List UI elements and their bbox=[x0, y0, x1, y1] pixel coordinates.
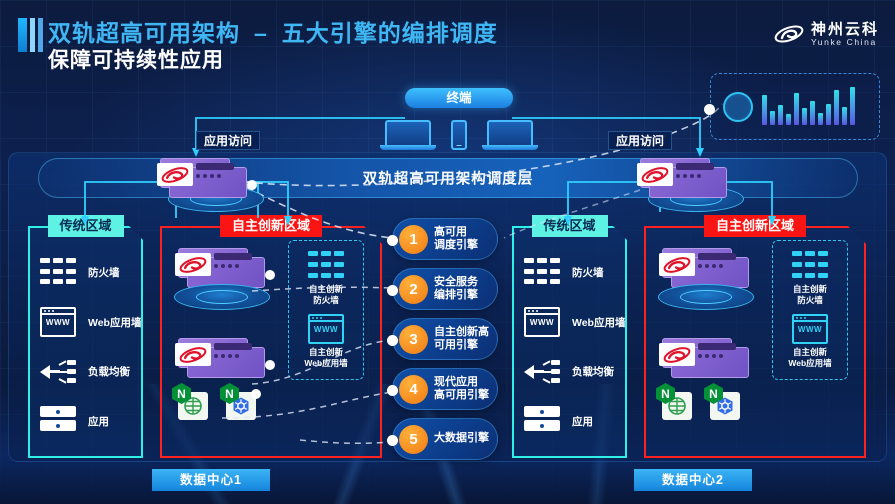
smartphone-icon bbox=[451, 120, 467, 150]
cloud-native-icons: NN bbox=[658, 386, 740, 420]
terminal-group: 终端 bbox=[385, 88, 533, 150]
traditional-service-label: 应用 bbox=[88, 414, 109, 429]
innovation-appliance-icon bbox=[178, 338, 270, 378]
web-application-firewall-icon: WWW bbox=[308, 314, 344, 344]
traditional-service-label: Web应用墙 bbox=[572, 315, 625, 330]
brand-name-cn: 神州云科 bbox=[811, 22, 879, 38]
chart-bar bbox=[770, 111, 775, 125]
scheduler-band-label: 双轨超高可用架构调度层 bbox=[363, 168, 534, 189]
engine-label: 大数据引擎 bbox=[434, 432, 489, 445]
chart-bar bbox=[786, 114, 791, 125]
nginx-gateway-icon[interactable]: N bbox=[658, 386, 692, 420]
traditional-service-item[interactable]: 负载均衡 bbox=[40, 357, 131, 387]
innovation-subitem-label-line2: Web应用墙 bbox=[788, 358, 831, 369]
engine-label-line2: 高可用引擎 bbox=[434, 389, 489, 402]
innovation-subitem[interactable]: WWW自主创新Web应用墙 bbox=[304, 314, 347, 368]
brand-name-en: Yunke China bbox=[811, 38, 879, 47]
firewall-icon bbox=[308, 251, 344, 281]
swirl-logo-icon bbox=[774, 22, 804, 46]
vendor-badge-icon bbox=[637, 163, 673, 186]
chart-bar bbox=[818, 113, 823, 125]
application-server-icon bbox=[40, 406, 76, 436]
header: 双轨超高可用架构–五大引擎的编排调度 保障可持续性应用 神州云科 Yunke C… bbox=[0, 0, 895, 72]
innovation-subitem-label-line1: 自主创新 bbox=[792, 284, 828, 295]
innovation-subpanel: 自主创新防火墙WWW自主创新Web应用墙 bbox=[772, 240, 848, 380]
innovation-subitem[interactable]: 自主创新防火墙 bbox=[792, 251, 828, 305]
chart-bar bbox=[810, 101, 815, 125]
zone-innovation-left[interactable]: 自主创新区域 NN 自主创新防火墙WWW自主创新Web应用墙 bbox=[160, 226, 382, 458]
firewall-icon bbox=[40, 258, 76, 288]
traditional-service-label: Web应用墙 bbox=[88, 315, 141, 330]
innovation-subitem-label-line2: 防火墙 bbox=[308, 295, 344, 306]
engine-number-badge: 3 bbox=[399, 325, 428, 354]
load-balancer-icon bbox=[40, 357, 76, 387]
innovation-subitem[interactable]: 自主创新防火墙 bbox=[308, 251, 344, 305]
engine-label-line1: 安全服务 bbox=[434, 276, 478, 289]
page-title-line-1: 双轨超高可用架构–五大引擎的编排调度 bbox=[48, 14, 498, 48]
scheduler-appliance-icon bbox=[640, 158, 732, 198]
engine-connector-node-icon bbox=[387, 385, 398, 396]
engine-number-badge: 4 bbox=[399, 375, 428, 404]
web-application-firewall-icon: WWW bbox=[792, 314, 828, 344]
traditional-service-label: 负载均衡 bbox=[88, 364, 130, 379]
engine-label-line1: 高可用 bbox=[434, 226, 478, 239]
laptop-icon bbox=[487, 120, 533, 150]
kubernetes-icon[interactable]: N bbox=[222, 386, 256, 420]
innovation-appliance-icon bbox=[178, 248, 270, 288]
traditional-service-list: 防火墙WWWWeb应用墙负载均衡应用 bbox=[28, 248, 143, 446]
engine-label: 现代应用高可用引擎 bbox=[434, 376, 489, 403]
innovation-subitem-label-line2: 防火墙 bbox=[792, 295, 828, 306]
innovation-subitem-label: 自主创新Web应用墙 bbox=[304, 347, 347, 368]
engine-connector-node-icon bbox=[387, 435, 398, 446]
laptop-icon bbox=[385, 120, 431, 150]
traditional-service-item[interactable]: WWWWeb应用墙 bbox=[40, 307, 131, 337]
zone-badge-traditional: 传统区域 bbox=[531, 215, 607, 237]
engine-label-line2: 调度引擎 bbox=[434, 239, 478, 252]
engine-list: 1高可用调度引擎2安全服务编排引擎3自主创新高可用引擎4现代应用高可用引擎5大数… bbox=[392, 218, 498, 468]
innovation-subitem-label-line1: 自主创新 bbox=[788, 347, 831, 358]
engine-item-1[interactable]: 1高可用调度引擎 bbox=[392, 218, 498, 260]
title-main: 双轨超高可用架构 bbox=[48, 20, 240, 46]
traditional-service-label: 防火墙 bbox=[88, 265, 120, 280]
innovation-podium bbox=[174, 284, 270, 310]
zone-traditional-right[interactable]: 传统区域 防火墙WWWWeb应用墙负载均衡应用 bbox=[512, 226, 627, 458]
chart-bar bbox=[794, 93, 799, 125]
chart-bar bbox=[834, 90, 839, 125]
connector-node-icon bbox=[251, 389, 261, 399]
nginx-gateway-icon[interactable]: N bbox=[174, 386, 208, 420]
scheduler-appliance-icon bbox=[160, 158, 252, 198]
engine-number-badge: 5 bbox=[399, 425, 428, 454]
vendor-badge-icon bbox=[157, 163, 193, 186]
terminal-label: 终端 bbox=[405, 88, 513, 108]
firewall-icon bbox=[792, 251, 828, 281]
chart-bar bbox=[850, 87, 855, 125]
engine-label: 自主创新高可用引擎 bbox=[434, 326, 489, 353]
header-accent-bars-icon bbox=[18, 18, 43, 52]
chart-bar bbox=[778, 105, 783, 125]
traditional-service-list: 防火墙WWWWeb应用墙负载均衡应用 bbox=[512, 248, 627, 446]
zone-badge-innovation: 自主创新区域 bbox=[704, 215, 806, 237]
innovation-subitem-label: 自主创新防火墙 bbox=[308, 284, 344, 305]
diagram-stage: 双轨超高可用架构–五大引擎的编排调度 保障可持续性应用 神州云科 Yunke C… bbox=[0, 0, 895, 504]
brand-text: 神州云科 Yunke China bbox=[811, 22, 879, 47]
traditional-service-item[interactable]: 防火墙 bbox=[40, 258, 131, 288]
brand-logo: 神州云科 Yunke China bbox=[774, 22, 879, 47]
traditional-service-label: 应用 bbox=[572, 414, 593, 429]
chart-bar bbox=[802, 108, 807, 125]
engine-item-4[interactable]: 4现代应用高可用引擎 bbox=[392, 368, 498, 410]
innovation-subitem-label: 自主创新防火墙 bbox=[792, 284, 828, 305]
load-balancer-icon bbox=[524, 357, 560, 387]
innovation-subitem-label-line1: 自主创新 bbox=[308, 284, 344, 295]
title-sub: 五大引擎的编排调度 bbox=[282, 20, 498, 46]
engine-number-badge: 1 bbox=[399, 225, 428, 254]
datacenter-label-2: 数据中心2 bbox=[634, 469, 752, 491]
traditional-service-item[interactable]: WWWWeb应用墙 bbox=[524, 307, 615, 337]
engine-connector-node-icon bbox=[387, 335, 398, 346]
engine-label-line1: 大数据引擎 bbox=[434, 432, 489, 445]
engine-label: 高可用调度引擎 bbox=[434, 226, 478, 253]
engine-label-line1: 现代应用 bbox=[434, 376, 489, 389]
kubernetes-icon[interactable]: N bbox=[706, 386, 740, 420]
engine-label: 安全服务编排引擎 bbox=[434, 276, 478, 303]
traditional-service-label: 负载均衡 bbox=[572, 364, 614, 379]
zone-traditional-left[interactable]: 传统区域 防火墙WWWWeb应用墙负载均衡应用 bbox=[28, 226, 143, 458]
access-label-left: 应用访问 bbox=[196, 131, 260, 150]
title-dash: – bbox=[240, 20, 282, 46]
innovation-appliance-icon bbox=[662, 338, 754, 378]
innovation-subitem-label-line2: Web应用墙 bbox=[304, 358, 347, 369]
bar-chart-icon bbox=[762, 89, 855, 125]
zone-innovation-right[interactable]: 自主创新区域 NN 自主创新防火墙WWW自主创新Web应用墙 bbox=[644, 226, 866, 458]
terminal-devices bbox=[385, 110, 533, 150]
web-application-firewall-icon: WWW bbox=[524, 307, 560, 337]
chart-bar bbox=[826, 104, 831, 125]
cloud-native-icons: NN bbox=[174, 386, 256, 420]
innovation-podium bbox=[658, 284, 754, 310]
engine-connector-node-icon bbox=[387, 235, 398, 246]
innovation-subitem-label: 自主创新Web应用墙 bbox=[788, 347, 831, 368]
application-server-icon bbox=[524, 406, 560, 436]
innovation-appliance-icon bbox=[662, 248, 754, 288]
innovation-subitem-label-line1: 自主创新 bbox=[304, 347, 347, 358]
firewall-icon bbox=[524, 258, 560, 288]
traditional-service-item[interactable]: 应用 bbox=[40, 406, 131, 436]
engine-connector-node-icon bbox=[387, 285, 398, 296]
engine-label-line2: 可用引擎 bbox=[434, 339, 489, 352]
page-title-line-2: 保障可持续性应用 bbox=[48, 44, 224, 74]
innovation-subitem[interactable]: WWW自主创新Web应用墙 bbox=[788, 314, 831, 368]
monitoring-panel bbox=[710, 73, 880, 140]
chart-bar bbox=[762, 95, 767, 125]
traditional-service-item[interactable]: 防火墙 bbox=[524, 258, 615, 288]
access-label-right: 应用访问 bbox=[608, 131, 672, 150]
engine-item-5[interactable]: 5大数据引擎 bbox=[392, 418, 498, 460]
engine-label-line1: 自主创新高 bbox=[434, 326, 489, 339]
traditional-service-label: 防火墙 bbox=[572, 265, 604, 280]
web-application-firewall-icon: WWW bbox=[40, 307, 76, 337]
engine-label-line2: 编排引擎 bbox=[434, 289, 478, 302]
traditional-service-item[interactable]: 负载均衡 bbox=[524, 357, 615, 387]
donut-chart-icon bbox=[723, 92, 753, 122]
engine-number-badge: 2 bbox=[399, 275, 428, 304]
traditional-service-item[interactable]: 应用 bbox=[524, 406, 615, 436]
engine-item-2[interactable]: 2安全服务编排引擎 bbox=[392, 268, 498, 310]
zone-badge-innovation: 自主创新区域 bbox=[220, 215, 322, 237]
chart-bar bbox=[842, 107, 847, 125]
zone-badge-traditional: 传统区域 bbox=[47, 215, 123, 237]
datacenter-label-1: 数据中心1 bbox=[152, 469, 270, 491]
engine-item-3[interactable]: 3自主创新高可用引擎 bbox=[392, 318, 498, 360]
monitor-connector-node-icon bbox=[704, 104, 715, 115]
innovation-subpanel: 自主创新防火墙WWW自主创新Web应用墙 bbox=[288, 240, 364, 380]
